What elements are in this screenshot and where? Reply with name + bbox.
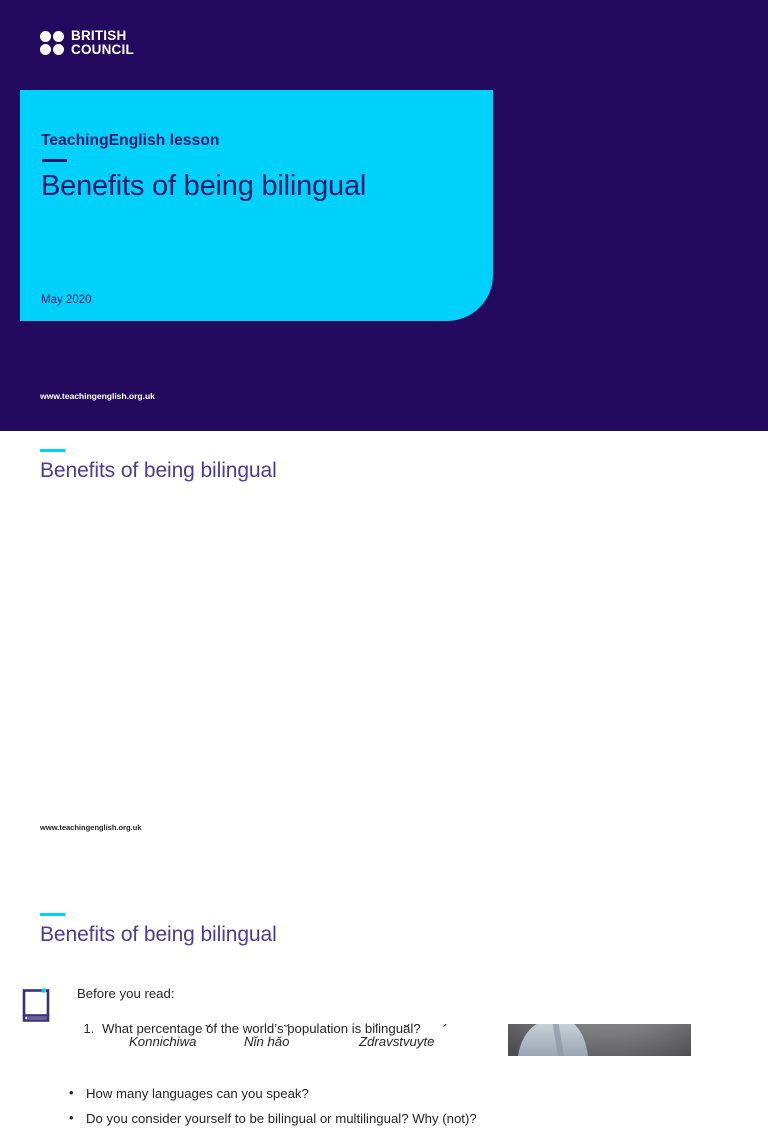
heading-accent-rule — [40, 913, 65, 916]
heading-accent-rule — [40, 449, 65, 452]
british-council-logo: BRITISH COUNCIL — [40, 29, 134, 57]
list-item: What percentage of the world’s populatio… — [98, 1020, 547, 1038]
title-slide: BRITISH COUNCIL TeachingEnglish lesson B… — [0, 0, 768, 431]
list-item: Do you consider yourself to be bilingual… — [63, 1110, 493, 1128]
beforeread-slide-heading-block: Benefits of being bilingual — [40, 913, 277, 947]
languages-slide: Benefits of being bilingual Do you know … — [0, 431, 768, 865]
languages-slide-footer-url: www.teachingenglish.org.uk — [40, 823, 141, 832]
title-slide-footer-url: www.teachingenglish.org.uk — [40, 391, 155, 401]
kicker-rule-divider — [42, 159, 67, 162]
before-you-read-question-list: What percentage of the world’s populatio… — [77, 1020, 547, 1038]
lesson-date: May 2020 — [41, 294, 92, 306]
logo-line-2: COUNCIL — [71, 43, 134, 57]
beforeread-slide-body: Before you read: What percentage of the … — [77, 985, 547, 1039]
british-council-dots-logo-icon — [40, 31, 64, 55]
languages-slide-heading-block: Benefits of being bilingual — [40, 449, 277, 483]
before-you-read-slide: Benefits of being bilingual Before you r… — [0, 865, 768, 1024]
lesson-title: Benefits of being bilingual — [41, 169, 493, 203]
logo-line-1: BRITISH — [71, 29, 134, 43]
list-item: How many languages can you speak? — [63, 1085, 493, 1103]
bottom-bullet-list: How many languages can you speak? Do you… — [63, 1085, 493, 1127]
lesson-kicker: TeachingEnglish lesson — [41, 132, 493, 150]
beforeread-slide-heading: Benefits of being bilingual — [40, 923, 277, 947]
british-council-wordmark: BRITISH COUNCIL — [71, 29, 134, 57]
title-card: TeachingEnglish lesson Benefits of being… — [20, 90, 493, 321]
languages-slide-heading: Benefits of being bilingual — [40, 459, 277, 483]
before-you-read-label: Before you read: — [77, 985, 547, 1003]
